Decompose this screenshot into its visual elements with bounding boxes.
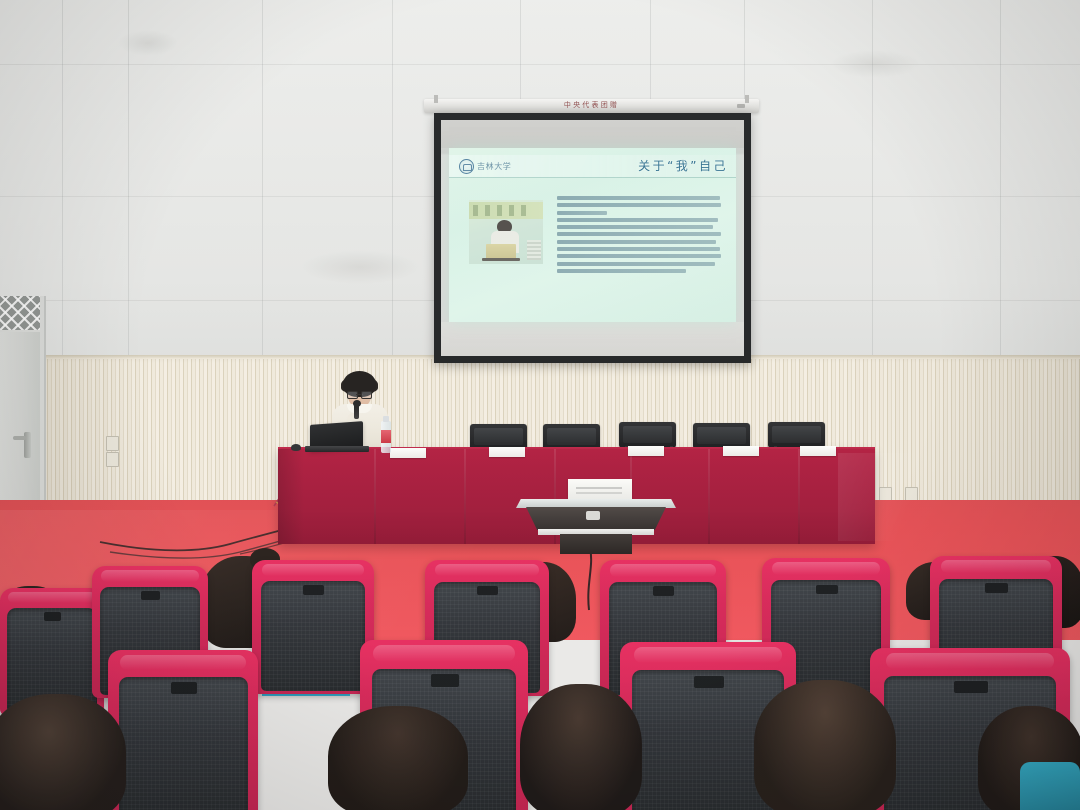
water-bottle-label: [381, 430, 391, 443]
university-crest-icon: [459, 159, 474, 174]
stage-chair[interactable]: [619, 422, 676, 448]
name-card: [628, 446, 664, 456]
lectern: [516, 479, 676, 551]
slide-portrait-photo: [469, 200, 543, 264]
stage-chair[interactable]: [768, 422, 825, 448]
door-lever-icon[interactable]: [13, 436, 26, 440]
projector-screen-housing: 中央代表团赠: [424, 99, 759, 113]
lecture-hall-photo: 中央代表团赠 吉林大学 关于“我”自己: [0, 0, 1080, 810]
slide-photo-side-panel: [527, 240, 541, 260]
water-bottle-cap: [383, 416, 389, 422]
microphone-head-icon: [353, 400, 361, 407]
presentation-slide: 吉林大学 关于“我”自己: [449, 148, 736, 322]
name-card: [390, 448, 426, 458]
slide-title: 关于“我”自己: [638, 157, 728, 174]
door-transom-window: [0, 296, 40, 330]
lectern-emblem: [586, 511, 600, 520]
slide-photo-laptop: [486, 244, 516, 259]
wall-socket: [106, 436, 119, 451]
audience-head-10: [754, 680, 896, 810]
speaker-glasses-icon: [347, 391, 372, 397]
lectern-column: [560, 534, 632, 554]
audience-shirt-teal: [1020, 762, 1080, 810]
audience-seat[interactable]: [108, 650, 258, 810]
audience-seat[interactable]: [252, 560, 374, 694]
audience-head-8: [328, 706, 468, 810]
screen-blank-band-bottom: [441, 322, 744, 356]
housing-donor-text: 中央代表团赠: [424, 100, 759, 110]
screen-blank-band-top: [441, 120, 744, 148]
lectern-top-surface: [516, 499, 676, 508]
audience-head-7: [0, 694, 126, 810]
slide-photo-banner: [469, 202, 543, 219]
projection-screen-surface: 吉林大学 关于“我”自己: [441, 120, 744, 356]
wall-socket: [106, 452, 119, 467]
name-card: [489, 447, 525, 457]
screen-pull-knob[interactable]: [737, 104, 745, 108]
slide-logo-label: 吉林大学: [477, 161, 511, 172]
slide-body-text: 我是代，代言同品，吉林大学哲学社会学院 2022级哲学专业本科生，吉林大学方进工…: [557, 196, 723, 276]
slide-photo-laptop-base: [482, 258, 520, 261]
computer-mouse[interactable]: [291, 444, 301, 451]
name-card: [800, 446, 836, 456]
lectern-document: [568, 479, 632, 501]
name-card: [723, 446, 759, 456]
slide-university-logo: 吉林大学: [459, 159, 511, 174]
audience-head-9: [520, 684, 642, 810]
presenter-laptop-base[interactable]: [305, 446, 369, 452]
